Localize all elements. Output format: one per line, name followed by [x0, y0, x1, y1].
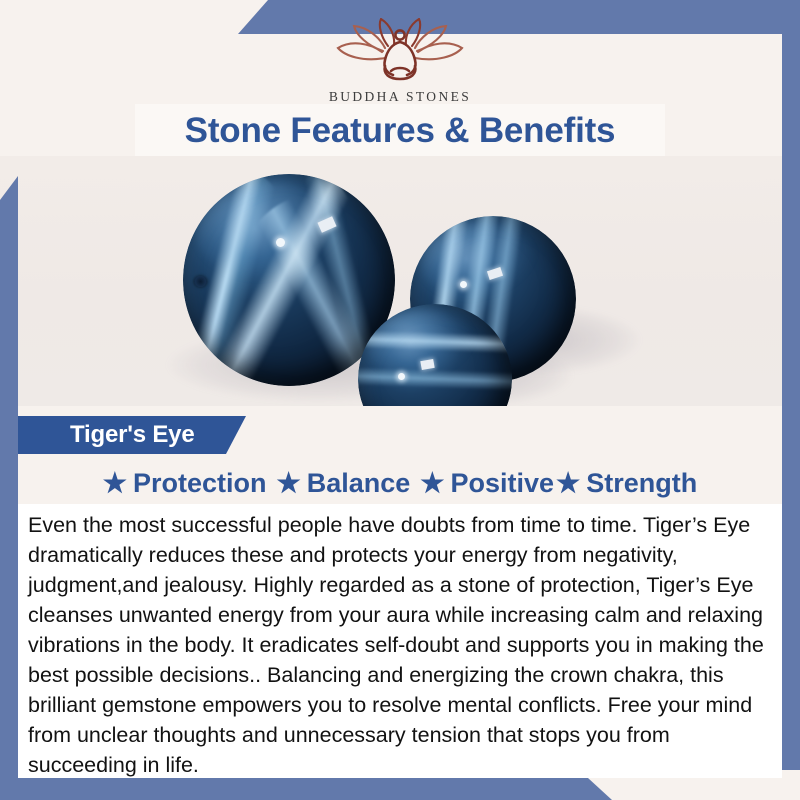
benefit-balance: ★ Balance	[276, 468, 410, 499]
star-icon: ★	[420, 470, 444, 497]
star-icon: ★	[556, 470, 580, 497]
product-photo	[0, 156, 800, 406]
benefit-label: Balance	[307, 468, 411, 499]
benefit-label: Strength	[586, 468, 697, 499]
star-icon: ★	[103, 470, 127, 497]
stone-name-banner: Tiger's Eye	[18, 416, 246, 454]
title-banner: Stone Features & Benefits	[135, 104, 665, 156]
benefit-strength: ★ Strength	[556, 468, 697, 499]
benefit-positive: ★ Positive	[420, 468, 554, 499]
bead-small	[358, 304, 512, 406]
star-icon: ★	[276, 470, 300, 497]
frame-bottom-bar	[0, 778, 800, 800]
stone-name-label: Tiger's Eye	[18, 421, 194, 449]
frame-left-bar	[0, 176, 18, 800]
frame-right-bar	[782, 34, 800, 770]
benefit-label: Positive	[450, 468, 554, 499]
benefit-protection: ★ Protection	[103, 468, 267, 499]
description-block: Even the most successful people have dou…	[18, 504, 782, 778]
benefits-row: ★ Protection ★ Balance ★ Positive ★ Stre…	[0, 462, 800, 504]
benefit-label: Protection	[133, 468, 267, 499]
infographic-page: BUDDHA STONES Stone Features & Benefits	[0, 0, 800, 800]
description-text: Even the most successful people have dou…	[18, 510, 782, 780]
brand-wordmark: BUDDHA STONES	[329, 89, 471, 105]
brand-logo: BUDDHA STONES	[0, 18, 800, 104]
page-title: Stone Features & Benefits	[185, 113, 616, 148]
lotus-meditation-icon	[325, 18, 475, 87]
